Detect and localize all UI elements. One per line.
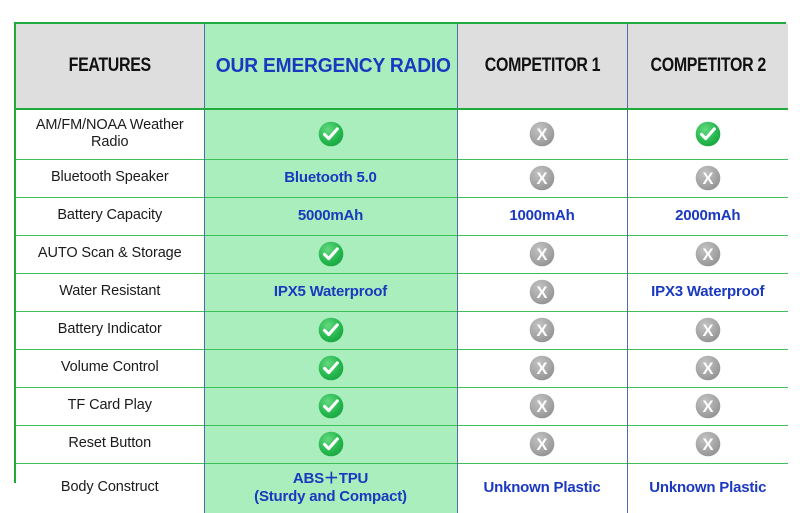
competitor-1-cell: Unknown Plastic (457, 463, 627, 513)
table-row: Battery IndicatorXX (16, 311, 788, 349)
table-row: Reset ButtonXX (16, 425, 788, 463)
table-row: AM/FM/NOAA Weather RadioX (16, 109, 788, 159)
feature-name-cell: Bluetooth Speaker (16, 159, 204, 197)
feature-name-label: Water Resistant (59, 283, 160, 299)
check-circle-icon (318, 121, 344, 147)
x-circle-icon: X (529, 121, 555, 147)
feature-name-label: Bluetooth Speaker (51, 169, 169, 185)
svg-text:X: X (702, 360, 713, 378)
competitor-2-cell: X (627, 311, 788, 349)
feature-name-label: Reset Button (68, 435, 151, 451)
x-circle-icon: X (529, 241, 555, 267)
comparison-table-page: FEATURES OUR EMERGENCY RADIO COMPETITOR … (0, 0, 800, 494)
competitor-2-cell: X (627, 425, 788, 463)
competitor-2-value: IPX3 Waterproof (651, 283, 764, 301)
x-circle-icon: X (529, 355, 555, 381)
feature-name-label: Body Construct (61, 479, 159, 495)
table-row: AUTO Scan & StorageXX (16, 235, 788, 273)
svg-text:X: X (702, 246, 713, 264)
svg-text:X: X (536, 246, 547, 264)
check-circle-icon (318, 317, 344, 343)
svg-text:X: X (536, 170, 547, 188)
svg-text:X: X (536, 284, 547, 302)
feature-name-cell: Battery Indicator (16, 311, 204, 349)
competitor-2-cell: Unknown Plastic (627, 463, 788, 513)
feature-name-label: Battery Capacity (57, 207, 162, 223)
x-circle-icon: X (695, 241, 721, 267)
feature-name-cell: Reset Button (16, 425, 204, 463)
svg-text:X: X (536, 126, 547, 144)
svg-text:X: X (702, 322, 713, 340)
our-radio-cell (204, 311, 457, 349)
svg-text:X: X (536, 360, 547, 378)
svg-text:X: X (702, 398, 713, 416)
feature-name-cell: AM/FM/NOAA Weather Radio (16, 109, 204, 159)
competitor-1-cell: X (457, 109, 627, 159)
feature-comparison-table: FEATURES OUR EMERGENCY RADIO COMPETITOR … (16, 24, 788, 513)
our-radio-cell (204, 387, 457, 425)
competitor-2-cell: X (627, 349, 788, 387)
table-header: FEATURES OUR EMERGENCY RADIO COMPETITOR … (16, 24, 788, 109)
column-header-features-label: FEATURES (36, 56, 183, 77)
feature-name-cell: TF Card Play (16, 387, 204, 425)
column-header-features: FEATURES (16, 24, 204, 109)
column-header-our-emergency-radio: OUR EMERGENCY RADIO (204, 24, 457, 109)
column-header-competitor-2-label: COMPETITOR 2 (645, 56, 770, 77)
our-radio-value: Bluetooth 5.0 (284, 169, 376, 187)
x-circle-icon: X (695, 165, 721, 191)
feature-name-label: AUTO Scan & Storage (38, 245, 182, 261)
our-radio-cell (204, 235, 457, 273)
competitor-2-cell: IPX3 Waterproof (627, 273, 788, 311)
competitor-1-cell: X (457, 273, 627, 311)
our-radio-cell: ABS＋TPU (Sturdy and Compact) (204, 463, 457, 513)
table-row: Volume ControlXX (16, 349, 788, 387)
table-row: Battery Capacity5000mAh1000mAh2000mAh (16, 197, 788, 235)
table-body: AM/FM/NOAA Weather RadioXBluetooth Speak… (16, 109, 788, 513)
competitor-1-value: Unknown Plastic (483, 479, 600, 497)
feature-name-label: TF Card Play (68, 397, 152, 413)
table-row: Water ResistantIPX5 WaterproofXIPX3 Wate… (16, 273, 788, 311)
x-circle-icon: X (529, 279, 555, 305)
check-circle-icon (318, 393, 344, 419)
x-circle-icon: X (529, 393, 555, 419)
competitor-1-cell: X (457, 235, 627, 273)
competitor-2-cell (627, 109, 788, 159)
competitor-1-cell: X (457, 387, 627, 425)
our-radio-cell (204, 425, 457, 463)
svg-text:X: X (702, 170, 713, 188)
competitor-1-cell: X (457, 159, 627, 197)
our-radio-cell: 5000mAh (204, 197, 457, 235)
feature-name-label: Battery Indicator (58, 321, 162, 337)
competitor-2-cell: 2000mAh (627, 197, 788, 235)
feature-name-label: AM/FM/NOAA Weather Radio (36, 117, 184, 151)
feature-name-cell: Volume Control (16, 349, 204, 387)
our-radio-cell: Bluetooth 5.0 (204, 159, 457, 197)
svg-text:X: X (536, 436, 547, 454)
our-radio-cell (204, 109, 457, 159)
header-row: FEATURES OUR EMERGENCY RADIO COMPETITOR … (16, 24, 788, 109)
competitor-1-cell: X (457, 349, 627, 387)
competitor-2-value: Unknown Plastic (649, 479, 766, 497)
x-circle-icon: X (695, 317, 721, 343)
our-radio-value: IPX5 Waterproof (274, 283, 387, 301)
table-row: Body ConstructABS＋TPU (Sturdy and Compac… (16, 463, 788, 513)
our-radio-value: ABS＋TPU (Sturdy and Compact) (254, 470, 407, 506)
x-circle-icon: X (695, 393, 721, 419)
comparison-table-container: FEATURES OUR EMERGENCY RADIO COMPETITOR … (14, 22, 786, 483)
feature-name-cell: Body Construct (16, 463, 204, 513)
table-row: TF Card PlayXX (16, 387, 788, 425)
competitor-2-value: 2000mAh (675, 207, 740, 225)
competitor-2-cell: X (627, 387, 788, 425)
our-radio-cell: IPX5 Waterproof (204, 273, 457, 311)
svg-text:X: X (536, 322, 547, 340)
competitor-2-cell: X (627, 159, 788, 197)
check-circle-icon (318, 241, 344, 267)
our-radio-value: 5000mAh (298, 207, 363, 225)
competitor-1-cell: 1000mAh (457, 197, 627, 235)
column-header-our-emergency-radio-label: OUR EMERGENCY RADIO (215, 55, 445, 77)
feature-name-cell: Water Resistant (16, 273, 204, 311)
feature-name-cell: AUTO Scan & Storage (16, 235, 204, 273)
competitor-1-value: 1000mAh (509, 207, 574, 225)
x-circle-icon: X (529, 317, 555, 343)
table-row: Bluetooth SpeakerBluetooth 5.0XX (16, 159, 788, 197)
competitor-1-cell: X (457, 311, 627, 349)
competitor-2-cell: X (627, 235, 788, 273)
x-circle-icon: X (695, 431, 721, 457)
column-header-competitor-1: COMPETITOR 1 (457, 24, 627, 109)
column-header-competitor-1-label: COMPETITOR 1 (476, 56, 608, 77)
x-circle-icon: X (529, 165, 555, 191)
x-circle-icon: X (529, 431, 555, 457)
svg-text:X: X (702, 436, 713, 454)
check-circle-icon (695, 121, 721, 147)
competitor-1-cell: X (457, 425, 627, 463)
svg-text:X: X (536, 398, 547, 416)
our-radio-cell (204, 349, 457, 387)
feature-name-label: Volume Control (61, 359, 159, 375)
check-circle-icon (318, 431, 344, 457)
check-circle-icon (318, 355, 344, 381)
feature-name-cell: Battery Capacity (16, 197, 204, 235)
column-header-competitor-2: COMPETITOR 2 (627, 24, 788, 109)
x-circle-icon: X (695, 355, 721, 381)
